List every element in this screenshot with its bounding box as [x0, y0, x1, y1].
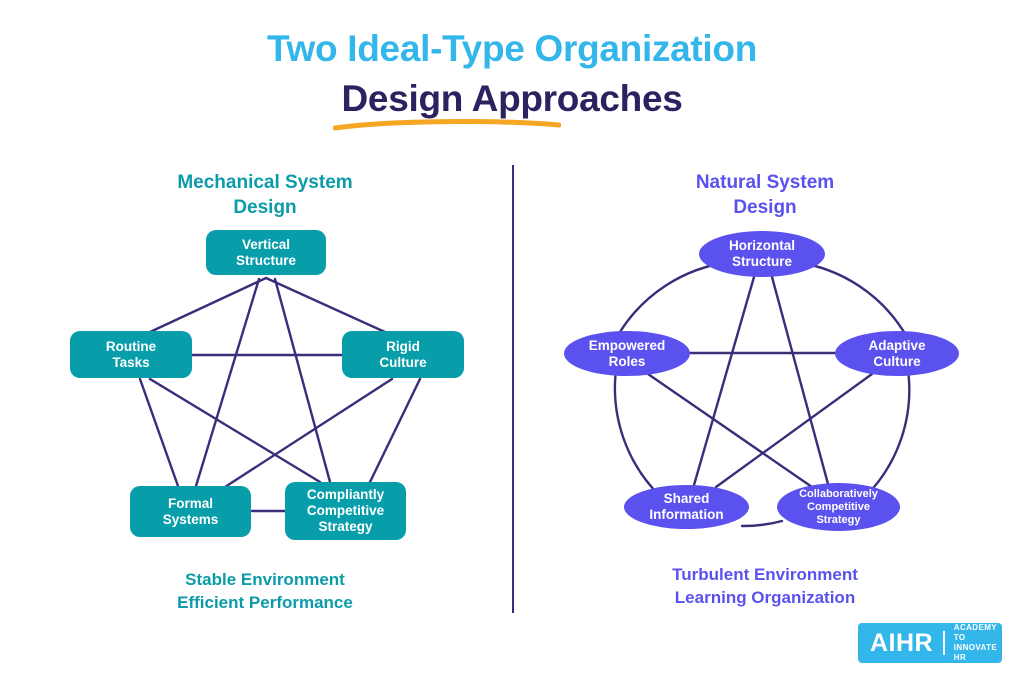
aihr-logo-tagline-line-2: INNOVATE HR — [954, 643, 997, 662]
edge-horizontal-shared — [694, 277, 754, 485]
node-compliantly-competitive-strategy[interactable]: Compliantly Competitive Strategy — [285, 482, 406, 540]
left-panel-heading-line-1: Mechanical System — [177, 172, 352, 193]
node-horizontal-structure[interactable]: Horizontal Structure — [699, 231, 825, 277]
edge-adaptive-shared — [716, 374, 872, 487]
edge-vertical-routine — [150, 278, 266, 332]
edge-arc-shared-collab — [742, 521, 782, 526]
edge-arc-empowered-shared — [615, 370, 660, 496]
title-line-2: Design Approaches — [342, 76, 683, 122]
edge-routine-compliant — [150, 379, 320, 482]
node-empowered-roles-line-1: Empowered — [589, 338, 666, 353]
node-formal-systems[interactable]: Formal Systems — [130, 486, 251, 537]
node-shared-information[interactable]: Shared Information — [624, 485, 749, 529]
node-compliantly-competitive-strategy-line-1: Compliantly — [307, 487, 384, 502]
node-compliantly-competitive-strategy-line-2: Competitive — [307, 503, 384, 518]
node-empowered-roles-line-2: Roles — [609, 354, 646, 369]
panel-divider — [512, 165, 514, 613]
edge-arc-adaptive-collab — [866, 370, 909, 496]
node-adaptive-culture-line-1: Adaptive — [868, 338, 925, 353]
aihr-logo: AIHR ACADEMY TO INNOVATE HR — [858, 623, 1002, 663]
node-collaboratively-competitive-strategy-line-2: Competitive — [807, 501, 870, 513]
node-adaptive-culture-line-2: Culture — [873, 354, 920, 369]
right-panel-heading: Natural System Design — [605, 170, 925, 220]
edge-arc-horizontal-empowered — [617, 262, 731, 337]
title-line-2-wrapper: Design Approaches — [342, 76, 683, 122]
node-routine-tasks-line-2: Tasks — [112, 355, 149, 370]
node-rigid-culture[interactable]: Rigid Culture — [342, 331, 464, 378]
left-panel-caption: Stable Environment Efficient Performance — [105, 568, 425, 614]
node-formal-systems-line-2: Systems — [163, 512, 219, 527]
right-panel-caption: Turbulent Environment Learning Organizat… — [605, 563, 925, 609]
left-panel-heading: Mechanical System Design — [105, 170, 425, 220]
node-vertical-structure-line-2: Structure — [236, 253, 296, 268]
edge-vertical-compliant — [275, 279, 330, 482]
right-panel-heading-line-2: Design — [733, 197, 796, 218]
node-formal-systems-line-1: Formal — [168, 496, 213, 511]
node-vertical-structure[interactable]: Vertical Structure — [206, 230, 326, 275]
left-panel-caption-line-1: Stable Environment — [185, 570, 345, 589]
aihr-logo-tagline: ACADEMY TO INNOVATE HR — [954, 623, 1002, 663]
right-panel-caption-line-2: Learning Organization — [675, 588, 855, 607]
edge-arc-horizontal-adaptive — [795, 262, 907, 337]
edge-routine-formal — [140, 379, 178, 486]
page-title: Two Ideal-Type Organization Design Appro… — [0, 26, 1024, 122]
left-panel-heading-line-2: Design — [233, 197, 296, 218]
node-collaboratively-competitive-strategy-line-3: Strategy — [816, 514, 860, 526]
edge-vertical-rigid — [266, 278, 385, 332]
node-horizontal-structure-line-1: Horizontal — [729, 238, 795, 253]
diagram-canvas: Two Ideal-Type Organization Design Appro… — [0, 0, 1024, 680]
node-adaptive-culture[interactable]: Adaptive Culture — [835, 331, 959, 376]
node-shared-information-line-2: Information — [649, 507, 723, 522]
node-collaboratively-competitive-strategy[interactable]: Collaboratively Competitive Strategy — [777, 483, 900, 531]
title-line-1: Two Ideal-Type Organization — [0, 26, 1024, 72]
right-panel-heading-line-1: Natural System — [696, 172, 834, 193]
node-routine-tasks[interactable]: Routine Tasks — [70, 331, 192, 378]
node-vertical-structure-line-1: Vertical — [242, 237, 290, 252]
edge-vertical-formal — [196, 279, 259, 486]
edge-rigid-compliant — [370, 379, 420, 482]
aihr-logo-separator — [943, 631, 945, 655]
edge-empowered-collab — [648, 374, 812, 487]
left-panel-caption-line-2: Efficient Performance — [177, 593, 353, 612]
edge-horizontal-collab — [772, 277, 828, 484]
node-rigid-culture-line-1: Rigid — [386, 339, 420, 354]
edge-rigid-formal — [225, 379, 392, 487]
aihr-logo-mark: AIHR — [870, 631, 933, 656]
node-routine-tasks-line-1: Routine — [106, 339, 156, 354]
aihr-logo-tagline-line-1: ACADEMY TO — [954, 623, 997, 642]
node-rigid-culture-line-2: Culture — [379, 355, 426, 370]
right-panel-caption-line-1: Turbulent Environment — [672, 565, 858, 584]
node-compliantly-competitive-strategy-line-3: Strategy — [318, 519, 372, 534]
node-shared-information-line-1: Shared — [664, 491, 710, 506]
node-empowered-roles[interactable]: Empowered Roles — [564, 331, 690, 376]
node-horizontal-structure-line-2: Structure — [732, 254, 792, 269]
node-collaboratively-competitive-strategy-line-1: Collaboratively — [799, 488, 878, 500]
